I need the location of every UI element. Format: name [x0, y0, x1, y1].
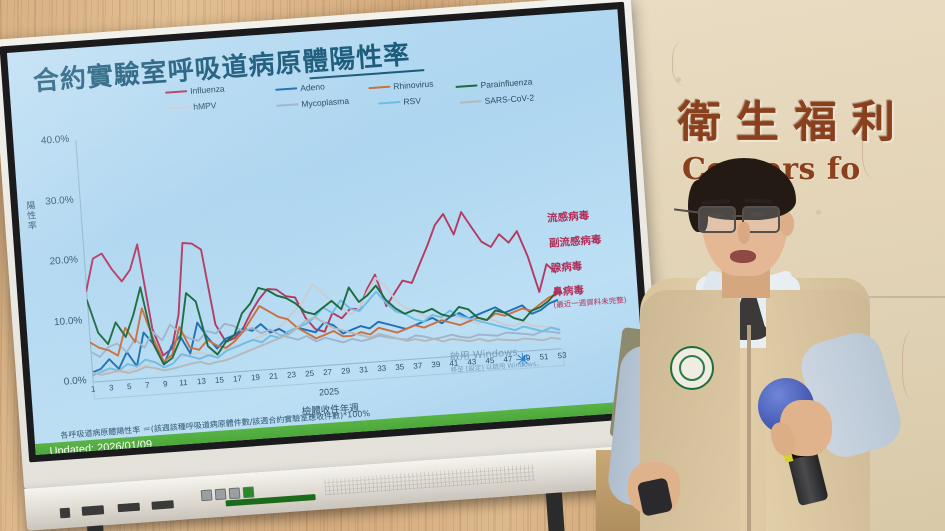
annotation-rhinovirus: 鼻病毒(最近一週資料未完整)	[552, 279, 627, 310]
y-tick-label: 40.0%	[23, 134, 70, 148]
vest-zipper	[747, 325, 751, 531]
cdc-badge-inner	[679, 355, 705, 381]
x-tick-label: 39	[428, 360, 443, 370]
chart-plot-area	[75, 107, 561, 382]
legend-swatch	[378, 101, 400, 105]
x-tick-label: 53	[555, 351, 570, 361]
legend-label: hMPV	[193, 100, 217, 112]
y-axis-label: 陽性率	[24, 201, 40, 232]
x-tick-label: 1	[86, 384, 101, 394]
display-port	[118, 503, 141, 513]
legend-swatch	[276, 103, 298, 107]
x-tick-label: 27	[320, 367, 335, 377]
display-control-button[interactable]	[215, 488, 227, 500]
windows-watermark-icon: ✳	[515, 350, 534, 369]
display-port	[60, 508, 71, 519]
x-tick-label: 3	[104, 383, 119, 393]
presentation-display: 合約實驗室呼吸道病原體陽性率 InfluenzahMPVAdenoMycopla…	[0, 0, 664, 509]
display-speaker-grill	[324, 464, 535, 495]
display-port	[82, 505, 105, 516]
y-tick-label: 20.0%	[32, 254, 79, 268]
legend-label: Rhinovirus	[393, 79, 434, 92]
x-tick-label: 17	[230, 374, 245, 384]
annotation-label: 副流感病毒	[549, 234, 602, 250]
annotation-adenovirus: 腺病毒	[550, 258, 582, 275]
x-tick-label: 15	[212, 375, 227, 385]
annotation-influenza: 流感病毒	[547, 208, 590, 226]
x-tick-label: 7	[140, 380, 155, 390]
x-tick-label: 19	[248, 373, 263, 383]
wall-crack	[672, 40, 703, 86]
ear	[780, 212, 794, 236]
x-tick-label: 33	[374, 363, 389, 373]
x-tick-label: 13	[194, 376, 209, 386]
legend-swatch	[275, 87, 297, 91]
x-tick-label: 11	[176, 378, 191, 388]
nose	[738, 222, 750, 244]
display-control-button[interactable]	[201, 489, 213, 501]
annotation-label: 鼻病毒	[552, 284, 584, 298]
x-tick-label: 9	[158, 379, 173, 389]
x-tick-label: 35	[392, 362, 407, 372]
x-tick-label: 25	[302, 369, 317, 379]
legend-item-hmpv: hMPV	[168, 100, 217, 113]
annotation-label: 腺病毒	[550, 260, 582, 274]
display-screen: 合約實驗室呼吸道病原體陽性率 InfluenzahMPVAdenoMycopla…	[7, 9, 646, 455]
legend-item-adeno: Adeno	[275, 81, 325, 95]
annotation-parainfluenza: 副流感病毒	[548, 232, 601, 251]
legend-item-rsv: RSV	[378, 96, 421, 109]
glasses-bridge	[732, 215, 742, 217]
legend-item-sars-cov-2: SARS-CoV-2	[459, 92, 534, 107]
legend-label: Mycoplasma	[301, 96, 349, 109]
presentation-photo: 衛生福利 Centers fo 合約實驗室呼吸道病原體陽性率 Influenza…	[0, 0, 945, 531]
legend-item-rhinovirus: Rhinovirus	[368, 79, 434, 94]
legend-label: SARS-CoV-2	[484, 92, 534, 106]
x-tick-label: 37	[410, 361, 425, 371]
display-stand-leg	[87, 525, 106, 531]
legend-swatch	[460, 100, 482, 104]
glasses-lens	[698, 206, 736, 233]
x-tick-label: 31	[356, 365, 371, 375]
x-tick-label: 21	[266, 371, 281, 381]
legend-label: Parainfluenza	[480, 76, 533, 90]
y-tick-label: 10.0%	[36, 315, 83, 329]
annotation-label: 流感病毒	[547, 210, 590, 225]
wall-sign-chinese: 衛生福利	[678, 88, 945, 150]
legend-swatch	[168, 106, 190, 110]
legend-item-parainfluenza: Parainfluenza	[455, 76, 533, 91]
x-tick-label: 23	[284, 370, 299, 380]
display-port	[151, 500, 174, 510]
slide: 合約實驗室呼吸道病原體陽性率 InfluenzahMPVAdenoMycopla…	[7, 9, 646, 455]
display-power-button[interactable]	[243, 486, 255, 498]
display-control-button[interactable]	[229, 487, 241, 499]
legend-label: Adeno	[300, 81, 325, 93]
legend-swatch	[165, 90, 187, 94]
x-tick-label: 5	[122, 382, 137, 392]
legend-swatch	[455, 84, 477, 88]
display-stand-leg	[546, 492, 565, 531]
mouth	[730, 250, 756, 263]
x-tick-label: 29	[338, 366, 353, 376]
legend-label: RSV	[403, 96, 421, 107]
legend-label: Influenza	[190, 84, 225, 96]
speaker-person	[630, 150, 945, 531]
legend-item-mycoplasma: Mycoplasma	[276, 96, 349, 111]
y-tick-label: 0.0%	[40, 375, 87, 389]
legend-swatch	[368, 85, 390, 89]
